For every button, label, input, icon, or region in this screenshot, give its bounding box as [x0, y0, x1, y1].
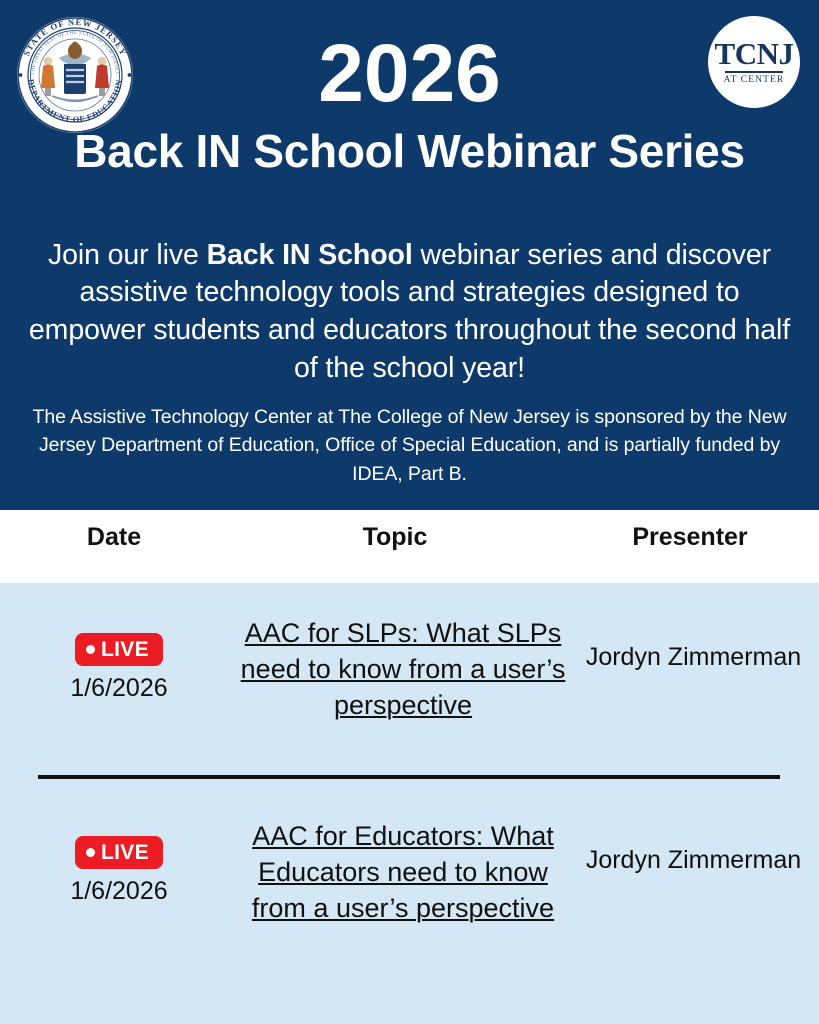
sponsorship-paragraph: The Assistive Technology Center at The C…	[22, 403, 797, 489]
webinar-series-poster: STATE OF NEW JERSEY DEPARTMENT OF EDUCAT…	[0, 0, 819, 1024]
live-dot-icon	[86, 848, 95, 857]
column-header-date: Date	[46, 525, 182, 550]
hero-banner: STATE OF NEW JERSEY DEPARTMENT OF EDUCAT…	[0, 0, 819, 510]
live-dot-icon	[86, 645, 95, 654]
column-header-date-label: Date	[46, 525, 182, 550]
poster-series-title: Back IN School Webinar Series	[0, 126, 819, 177]
table-row: LIVE 1/6/2026 AAC for Educators: What Ed…	[0, 818, 819, 927]
live-badge: LIVE	[75, 633, 163, 666]
column-header-presenter-label: Presenter	[620, 525, 760, 550]
row-date-cell: LIVE 1/6/2026	[0, 818, 238, 906]
poster-year-title: 2026	[0, 33, 819, 115]
row-presenter-name: Jordyn Zimmerman	[568, 844, 819, 876]
table-row: LIVE 1/6/2026 AAC for SLPs: What SLPs ne…	[0, 615, 819, 724]
intro-text-part1: Join our live	[48, 239, 207, 271]
column-header-presenter: Presenter	[620, 525, 760, 550]
row-presenter-cell: Jordyn Zimmerman	[568, 615, 819, 673]
row-separator	[38, 775, 780, 779]
column-header-topic-label: Topic	[325, 525, 465, 550]
live-badge: LIVE	[75, 836, 163, 869]
row-topic-cell: AAC for SLPs: What SLPs need to know fro…	[238, 615, 568, 724]
intro-text-bold: Back IN School	[207, 239, 413, 271]
row-topic-link[interactable]: AAC for SLPs: What SLPs need to know fro…	[241, 618, 566, 720]
schedule-table-header: Date Topic Presenter	[0, 510, 819, 583]
row-topic-link[interactable]: AAC for Educators: What Educators need t…	[252, 821, 554, 923]
row-topic-cell: AAC for Educators: What Educators need t…	[238, 818, 568, 927]
column-header-topic: Topic	[325, 525, 465, 550]
row-date-text: 1/6/2026	[0, 675, 238, 703]
live-badge-label: LIVE	[101, 842, 149, 863]
row-presenter-cell: Jordyn Zimmerman	[568, 818, 819, 876]
schedule-table-body: LIVE 1/6/2026 AAC for SLPs: What SLPs ne…	[0, 583, 819, 1024]
row-date-cell: LIVE 1/6/2026	[0, 615, 238, 703]
intro-paragraph: Join our live Back IN School webinar ser…	[28, 237, 791, 389]
row-presenter-name: Jordyn Zimmerman	[568, 641, 819, 673]
row-date-text: 1/6/2026	[0, 878, 238, 906]
live-badge-label: LIVE	[101, 639, 149, 660]
